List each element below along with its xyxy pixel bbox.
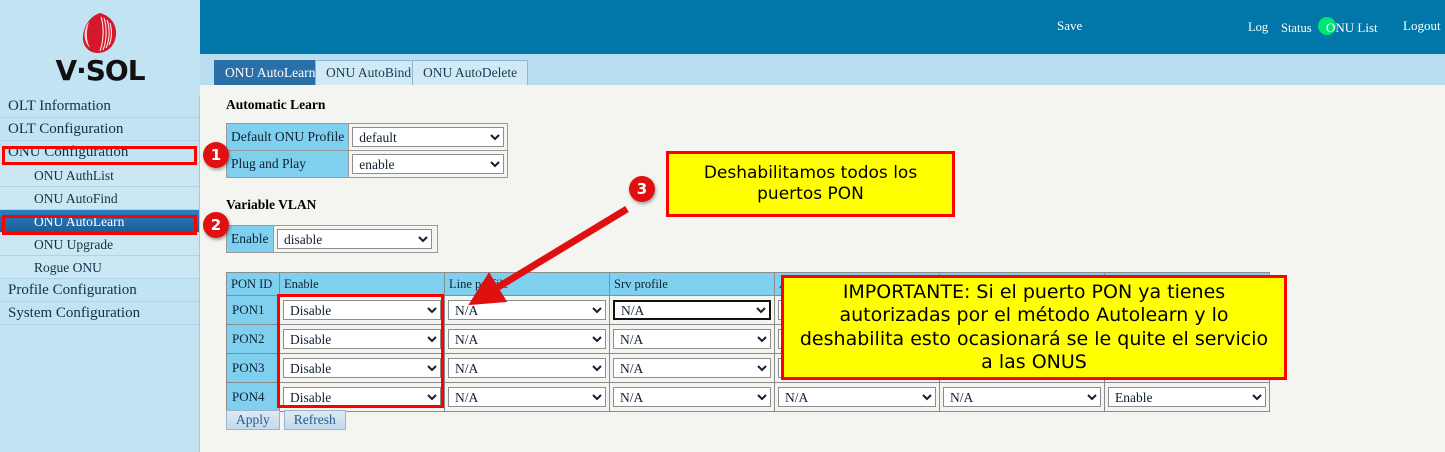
automatic-learn-form: Default ONU Profile default Plug and Pla…	[226, 123, 508, 178]
col-pon-id: PON ID	[227, 273, 280, 296]
default-onu-profile-label: Default ONU Profile	[227, 124, 349, 151]
top-header: Save Log Status ONU List Logout	[200, 0, 1445, 54]
pon4-enable-select[interactable]: Disable	[283, 387, 441, 407]
vsol-logo-icon	[77, 10, 123, 56]
pon3-enable-select[interactable]: Disable	[283, 358, 441, 378]
automatic-learn-title: Automatic Learn	[226, 97, 325, 113]
line-profile-cell: N/A	[445, 325, 610, 354]
plug-and-play-cell: Enable	[1105, 383, 1270, 412]
note-top: Deshabilitamos todos los puertos PON	[666, 151, 955, 217]
pon4-srv-profile-select[interactable]: N/A	[613, 387, 771, 407]
col-line-profile: Line profile	[445, 273, 610, 296]
marker-1: 1	[203, 142, 229, 168]
default-onu-profile-select[interactable]: default	[352, 127, 504, 147]
pon4-auth-mode-select[interactable]: N/A	[778, 387, 936, 407]
sidebar-item-onu-configuration[interactable]: ONU Configuration	[0, 141, 199, 164]
sidebar-item-profile-configuration[interactable]: Profile Configuration	[0, 279, 199, 302]
tab-onu-autolearn[interactable]: ONU AutoLearn	[214, 60, 326, 85]
sidebar-item-olt-configuration[interactable]: OLT Configuration	[0, 118, 199, 141]
plug-and-play-cell: enable	[349, 151, 508, 178]
col-srv-profile: Srv profile	[610, 273, 775, 296]
pon3-srv-profile-select[interactable]: N/A	[613, 358, 771, 378]
brand-name: V·SOL	[55, 57, 144, 85]
variable-vlan-enable-select[interactable]: disable	[277, 229, 432, 249]
sidebar-item-olt-information[interactable]: OLT Information	[0, 95, 199, 118]
button-row: Apply Refresh	[200, 410, 346, 430]
onu-list-link[interactable]: ONU List	[1326, 20, 1378, 36]
enable-cell: Disable	[280, 383, 445, 412]
main-content: Automatic Learn Default ONU Profile defa…	[200, 85, 1445, 452]
status-link[interactable]: Status	[1281, 21, 1312, 36]
pon2-line-profile-select[interactable]: N/A	[448, 329, 606, 349]
sidebar-item-onu-upgrade[interactable]: ONU Upgrade	[0, 233, 199, 256]
apply-button[interactable]: Apply	[226, 410, 280, 430]
enable-cell: Disable	[280, 354, 445, 383]
sidebar-item-onu-autofind[interactable]: ONU AutoFind	[0, 187, 199, 210]
save-button[interactable]: Save	[1057, 18, 1082, 34]
refresh-button[interactable]: Refresh	[284, 410, 346, 430]
logout-link[interactable]: Logout	[1403, 18, 1441, 34]
brand-logo: V·SOL	[0, 0, 200, 95]
sidebar-item-onu-authlist[interactable]: ONU AuthList	[0, 164, 199, 187]
default-onu-profile-cell: default	[349, 124, 508, 151]
pon4-line-profile-select[interactable]: N/A	[448, 387, 606, 407]
auth-mode-cell: N/A	[775, 383, 940, 412]
line-profile-cell: N/A	[445, 296, 610, 325]
pon4-plug-and-play-select[interactable]: Enable	[1108, 387, 1266, 407]
marker-3: 3	[629, 176, 655, 202]
form-row-default-onu-profile: Default ONU Profile default	[227, 124, 508, 151]
srv-profile-cell: N/A	[610, 383, 775, 412]
sidebar-item-rogue-onu[interactable]: Rogue ONU	[0, 256, 199, 279]
pon-id-cell: PON2	[227, 325, 280, 354]
plug-and-play-select[interactable]: enable	[352, 154, 504, 174]
enable-cell: Disable	[280, 296, 445, 325]
pon3-line-profile-select[interactable]: N/A	[448, 358, 606, 378]
line-profile-cell: N/A	[445, 354, 610, 383]
tab-onu-autobind[interactable]: ONU AutoBind	[315, 60, 422, 85]
pon2-srv-profile-select[interactable]: N/A	[613, 329, 771, 349]
pon-id-cell: PON1	[227, 296, 280, 325]
pon1-line-profile-select[interactable]: N/A	[448, 300, 606, 320]
col-enable: Enable	[280, 273, 445, 296]
pon2-enable-select[interactable]: Disable	[283, 329, 441, 349]
srv-profile-cell: N/A	[610, 325, 775, 354]
marker-2: 2	[203, 212, 229, 238]
plug-and-play-label: Plug and Play	[227, 151, 349, 178]
line-profile-cell: N/A	[445, 383, 610, 412]
note-important: IMPORTANTE: Si el puerto PON ya tienes a…	[781, 275, 1287, 380]
srv-profile-cell: N/A	[610, 296, 775, 325]
variable-vlan-enable-label: Enable	[227, 226, 274, 253]
sidebar: V·SOL OLT Information OLT Configuration …	[0, 0, 200, 452]
pon-id-cell: PON4	[227, 383, 280, 412]
tab-onu-autodelete[interactable]: ONU AutoDelete	[412, 60, 528, 85]
srv-profile-cell: N/A	[610, 354, 775, 383]
sidebar-item-system-configuration[interactable]: System Configuration	[0, 302, 199, 325]
pon4-vlan-mode-select[interactable]: N/A	[943, 387, 1101, 407]
variable-vlan-title: Variable VLAN	[226, 197, 316, 213]
variable-vlan-enable-cell: disable	[274, 226, 438, 253]
table-row: PON4 Disable N/A N/A N/A N/A Enable	[227, 383, 1270, 412]
form-row-plug-and-play: Plug and Play enable	[227, 151, 508, 178]
sidebar-item-onu-autolearn[interactable]: ONU AutoLearn	[0, 210, 199, 233]
pon1-enable-select[interactable]: Disable	[283, 300, 441, 320]
vlan-mode-cell: N/A	[940, 383, 1105, 412]
variable-vlan-form: Enable disable	[226, 225, 438, 253]
tab-bar: ONU AutoLearn ONU AutoBind ONU AutoDelet…	[200, 54, 1445, 85]
log-link[interactable]: Log	[1248, 20, 1268, 35]
pon-id-cell: PON3	[227, 354, 280, 383]
pon1-srv-profile-select[interactable]: N/A	[613, 300, 771, 320]
form-row-variable-vlan-enable: Enable disable	[227, 226, 438, 253]
enable-cell: Disable	[280, 325, 445, 354]
